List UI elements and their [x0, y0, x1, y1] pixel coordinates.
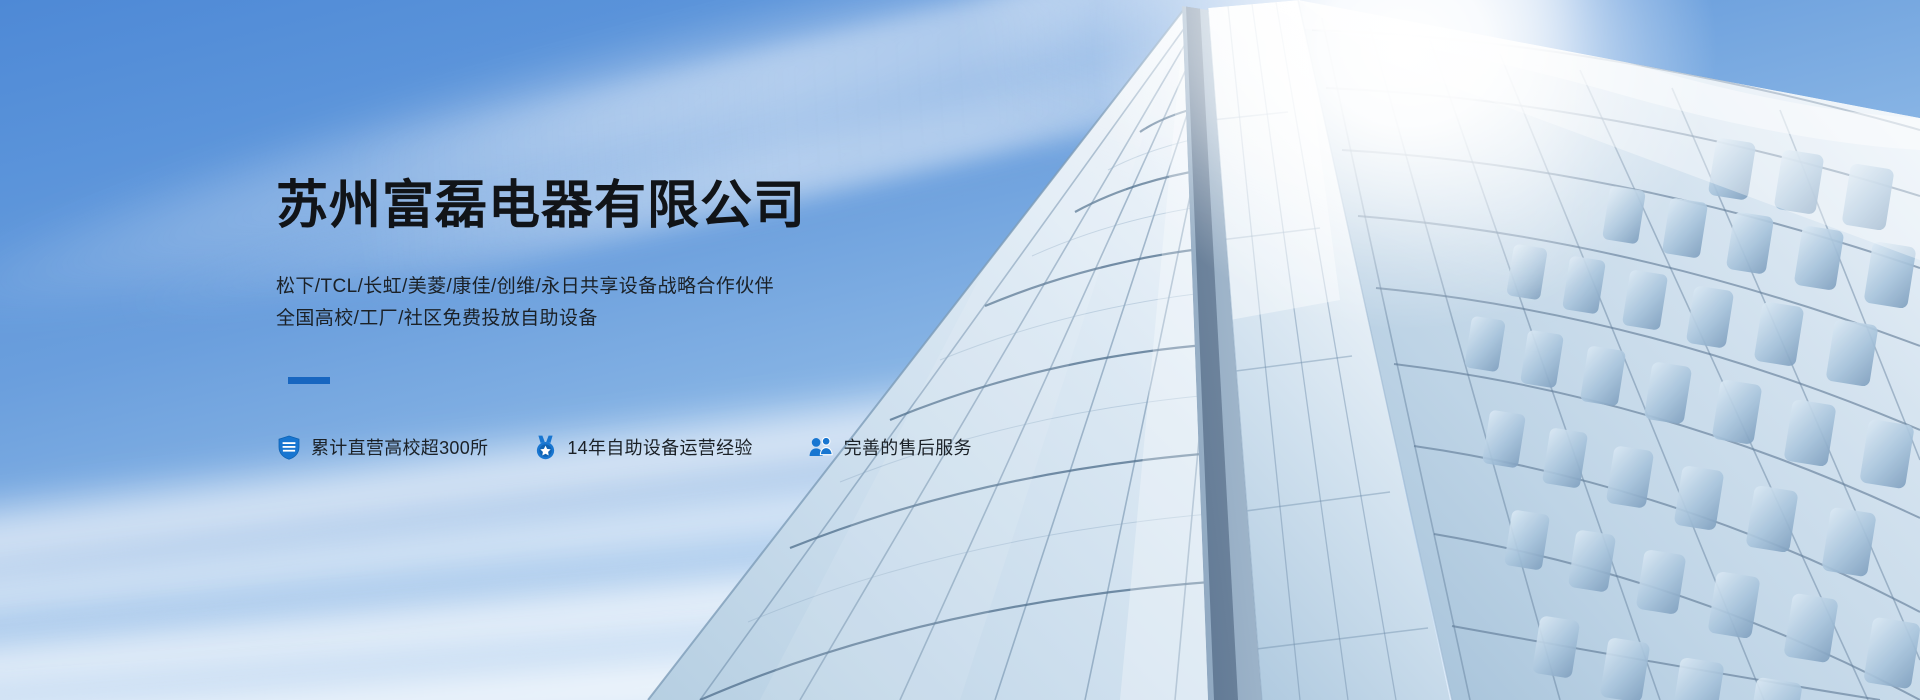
medal-icon	[532, 434, 558, 460]
feature-badge-list: 累计直营高校超300所 14年自助设备运营经验	[276, 434, 972, 460]
service-subtitle: 全国高校/工厂/社区免费投放自助设备	[276, 305, 598, 334]
people-icon	[809, 434, 835, 460]
feature-badge-experience: 14年自助设备运营经验	[532, 434, 752, 460]
company-title: 苏州富磊电器有限公司	[276, 178, 806, 234]
shield-icon	[276, 434, 302, 460]
hero-banner: 苏州富磊电器有限公司 松下/TCL/长虹/美菱/康佳/创维/永日共享设备战略合作…	[0, 0, 1920, 700]
feature-badge-label: 14年自助设备运营经验	[567, 434, 752, 460]
feature-badge-schools: 累计直营高校超300所	[276, 434, 488, 460]
feature-badge-label: 累计直营高校超300所	[311, 434, 488, 460]
partner-subtitle: 松下/TCL/长虹/美菱/康佳/创维/永日共享设备战略合作伙伴	[276, 273, 774, 302]
accent-divider	[288, 377, 330, 384]
feature-badge-label: 完善的售后服务	[844, 434, 972, 460]
feature-badge-support: 完善的售后服务	[809, 434, 972, 460]
banner-content: 苏州富磊电器有限公司 松下/TCL/长虹/美菱/康佳/创维/永日共享设备战略合作…	[276, 0, 1176, 700]
